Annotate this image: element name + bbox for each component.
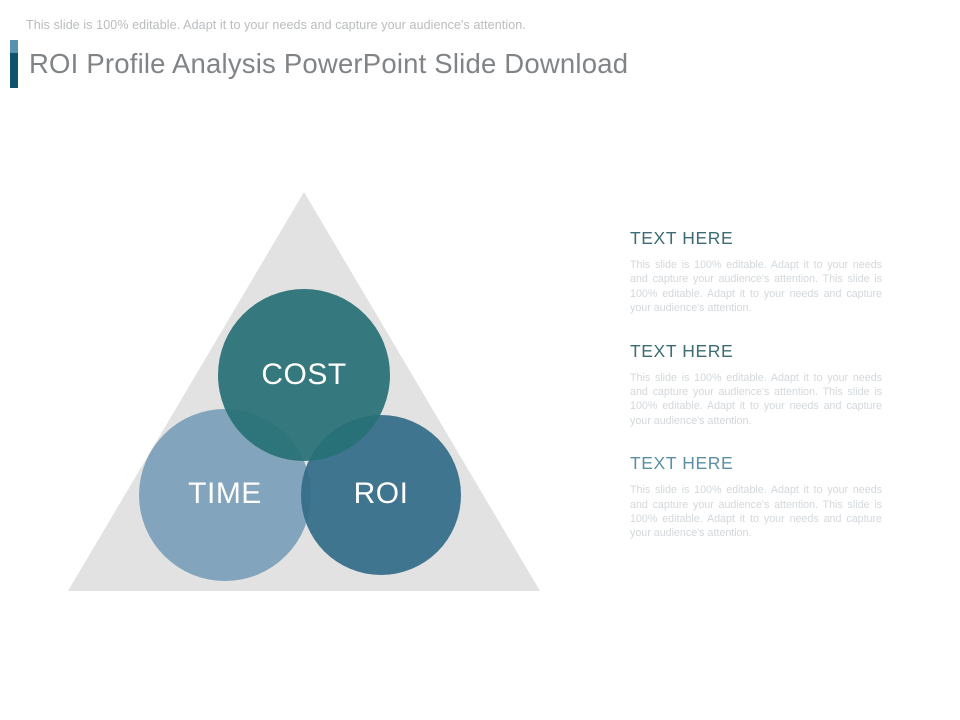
page-title: ROI Profile Analysis PowerPoint Slide Do…: [29, 48, 628, 80]
venn-label-cost: COST: [261, 358, 346, 391]
venn-label-time: TIME: [188, 477, 262, 510]
title-accent-bar-top-segment: [10, 40, 18, 53]
slide-canvas: This slide is 100% editable. Adapt it to…: [0, 0, 960, 720]
venn-diagram: COST TIME ROI: [40, 170, 580, 620]
text-block-body: This slide is 100% editable. Adapt it to…: [630, 483, 882, 541]
text-block: TEXT HERE This slide is 100% editable. A…: [630, 453, 882, 541]
text-block-heading: TEXT HERE: [630, 228, 882, 249]
text-block-heading: TEXT HERE: [630, 341, 882, 362]
editable-note: This slide is 100% editable. Adapt it to…: [26, 18, 526, 32]
text-block: TEXT HERE This slide is 100% editable. A…: [630, 228, 882, 316]
venn-label-roi: ROI: [354, 477, 409, 510]
text-block-heading: TEXT HERE: [630, 453, 882, 474]
text-block-body: This slide is 100% editable. Adapt it to…: [630, 258, 882, 316]
text-column: TEXT HERE This slide is 100% editable. A…: [630, 228, 882, 541]
text-block-body: This slide is 100% editable. Adapt it to…: [630, 371, 882, 429]
text-block: TEXT HERE This slide is 100% editable. A…: [630, 341, 882, 429]
